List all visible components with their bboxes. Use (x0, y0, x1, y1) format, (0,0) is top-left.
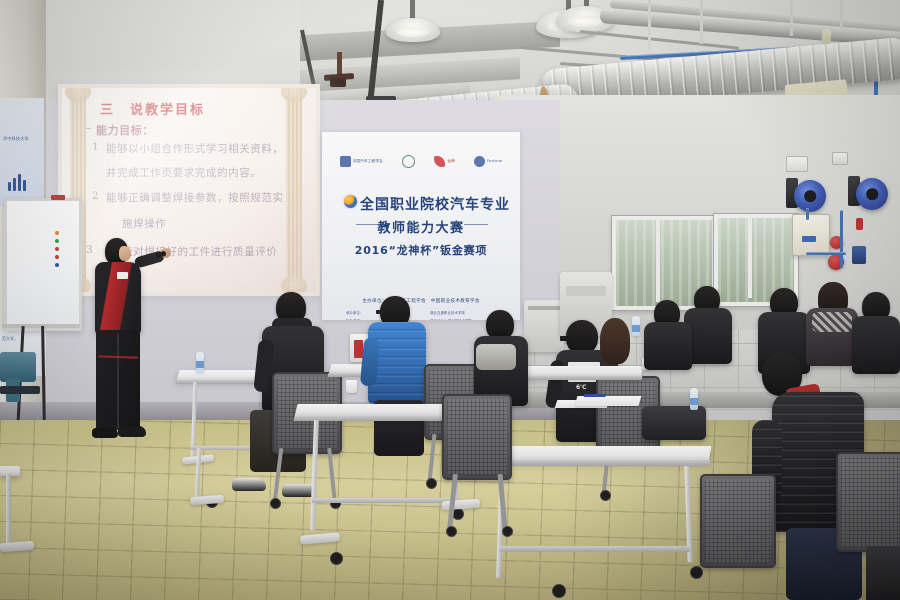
table-caster (330, 552, 343, 565)
attendee-head (600, 318, 630, 364)
hanger-rod (840, 0, 843, 30)
banner-headline-event: 2016“龙神杯”钣金赛项 (322, 242, 520, 258)
banner-small-right: 湖北交通职业技术学院 (430, 310, 465, 315)
panel-valve (802, 236, 816, 242)
water-bottle (690, 388, 698, 410)
banner-small-right: 湖北工业大学工程技术学院 (430, 318, 472, 320)
whiteboard-clip (51, 195, 65, 200)
hanger-rod (790, 0, 793, 36)
chair-caster (270, 498, 281, 509)
table-caster (552, 584, 566, 598)
wall-poster: 华中科技大学 (0, 98, 44, 206)
sponsor-logo-label: 龙神 (447, 159, 455, 163)
blue-pipe (806, 208, 809, 220)
banner-divider (464, 224, 488, 225)
slide-line-text: 能够正确调整焊接参数，按照规范实 (106, 190, 284, 205)
presenter-leg-split (117, 334, 119, 430)
table-rail (312, 498, 457, 503)
chair-caster (426, 478, 437, 489)
emergency-stop-button[interactable] (856, 218, 863, 230)
sponsor-logo-longshen: 龙神 (434, 156, 455, 167)
attendee-head (566, 320, 598, 354)
wall-outlet[interactable] (786, 156, 808, 172)
slide-line-num: 2 (92, 190, 99, 202)
banner-small-line: 协办单位： (346, 318, 363, 320)
control-panel-box[interactable] (792, 214, 830, 256)
presenter-name-badge (117, 272, 128, 279)
slide-line-num: 1 (92, 141, 99, 153)
attendee-torso (644, 322, 692, 370)
chair-back[interactable] (836, 452, 900, 552)
slide-line-text: 施焊操作 (122, 216, 166, 231)
whiteboard[interactable] (4, 198, 82, 331)
fortune-logo-icon (474, 156, 485, 167)
attendee-scarf (476, 344, 516, 370)
blue-pipe (840, 210, 843, 268)
presenter-face (119, 246, 131, 261)
eyeglasses-icon (560, 336, 570, 341)
slide-line-num: 3 (86, 244, 93, 256)
classroom-photo: 三 说教学目标 能力目标： – 1 能够以小组合作形式学习相关资料， 并完成工作… (0, 0, 900, 600)
chair-edge-foreground (866, 546, 900, 600)
water-bottle (196, 352, 204, 372)
chair-caster (600, 490, 611, 501)
projector-body (330, 78, 346, 87)
pen (584, 394, 607, 397)
blue-pipe (806, 252, 846, 255)
presenter-shoe (118, 426, 146, 437)
event-banner: 中国汽车工程学会 龙神 Fortune 全国职业院校汽车专业 ★ 教师能力大赛 … (322, 132, 520, 320)
longshen-logo-icon (434, 156, 445, 167)
slide-line-text: 并完成工作页要求完成的内容。 (106, 165, 261, 180)
sponsor-logo-sae: 中国汽车工程学会 (340, 156, 383, 167)
hose-reel[interactable] (794, 180, 826, 212)
wall-outlet[interactable] (832, 152, 848, 165)
sponsor-logo-fortune: Fortune (474, 156, 502, 167)
laptop-bag (642, 406, 706, 440)
presenter-shoe (92, 428, 118, 438)
hanger-rod (700, 0, 703, 44)
attendee-shoe (232, 478, 266, 491)
window-mullion (748, 214, 752, 298)
slide-dash: – (86, 122, 92, 134)
sponsor-logo-row: 中国汽车工程学会 龙神 Fortune (330, 152, 512, 170)
eyeglasses-icon (376, 310, 384, 314)
table-rail (500, 546, 691, 552)
jacket-text-sub: 6'C (576, 384, 586, 391)
cabinet-vent (528, 306, 560, 310)
hanger-rod (648, 0, 651, 50)
sponsor-logo-label: Fortune (487, 159, 502, 163)
window-mullion (656, 216, 660, 302)
chair-back[interactable] (700, 474, 776, 568)
chair-back[interactable] (442, 394, 512, 480)
slide-line-text: 能够以小组合作形式学习相关资料， (106, 141, 284, 156)
chair-caster (502, 526, 513, 537)
hose-reel[interactable] (856, 178, 888, 210)
poster-lower-text: 范大学。 (2, 336, 18, 342)
banner-headline-secondary: 教师能力大赛 (322, 217, 520, 236)
equipment-panel (566, 286, 606, 296)
star-icon: ★ (454, 222, 460, 230)
water-bottle (632, 316, 640, 336)
presentation-slide: 三 说教学目标 能力目标： – 1 能够以小组合作形式学习相关资料， 并完成工作… (62, 88, 316, 292)
sae-logo-icon (340, 156, 351, 167)
poster-text: 华中科技大学 (3, 136, 29, 142)
sponsor-logo-label: 中国汽车工程学会 (353, 159, 383, 163)
green-circle-logo-icon (402, 155, 415, 168)
chair-caster (446, 526, 457, 537)
attendee-scarf (812, 312, 852, 332)
left-equipment-rail (0, 386, 40, 394)
banner-organizer-line: 主办单位：中国汽车工程学会 中国职业技术教育学会 (322, 298, 520, 304)
banner-headline-primary: 全国职业院校汽车专业 (322, 194, 520, 214)
paper-sheet (575, 396, 642, 406)
table-caster (690, 566, 703, 579)
attendee-torso (852, 316, 900, 374)
table-leg (6, 474, 11, 544)
ceiling-lamp (386, 18, 440, 42)
sponsor-logo-green (402, 155, 415, 168)
paper-cup (346, 380, 357, 393)
slide-title: 三 说教学目标 (100, 99, 300, 118)
table-edge (477, 460, 710, 466)
slide-subtitle: 能力目标： (96, 122, 154, 138)
blue-device (852, 246, 866, 264)
banner-small-line: 承办单位： (346, 310, 363, 315)
